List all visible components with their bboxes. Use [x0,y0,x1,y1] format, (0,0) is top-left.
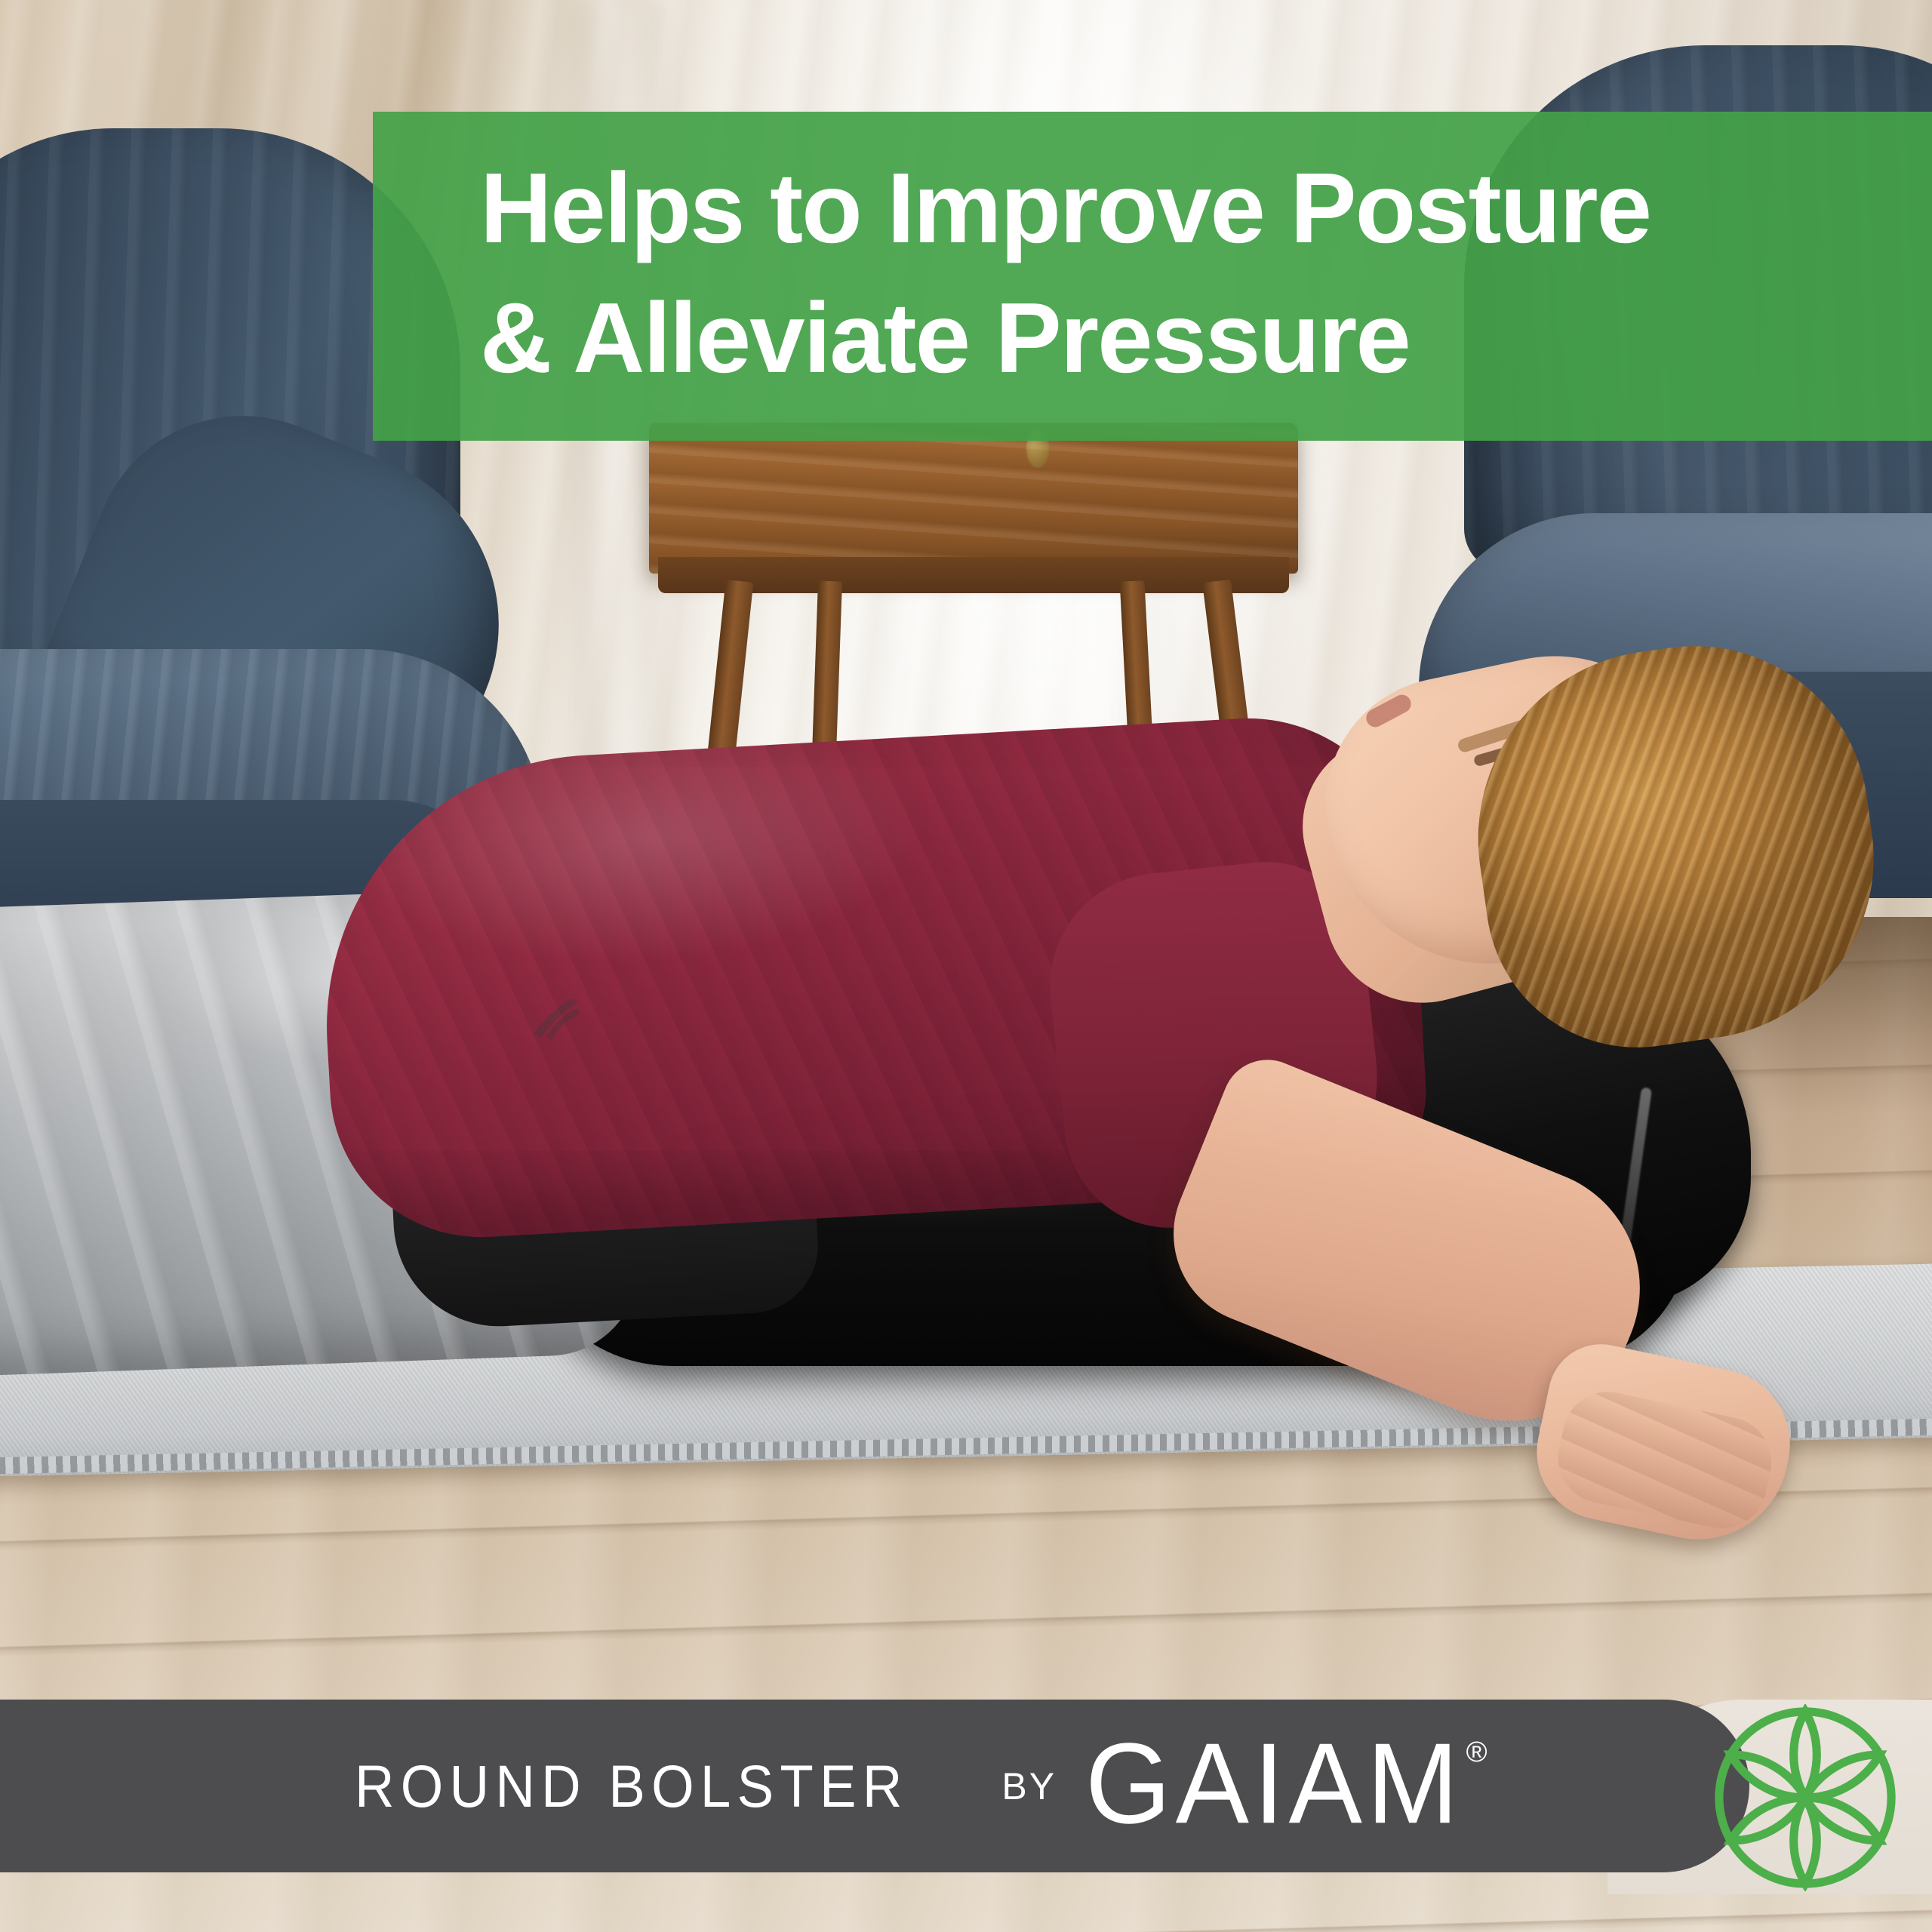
brand-bar: ROUND BOLSTER BY GAIAM ® [0,1700,1749,1872]
headline-line-1: Helps to Improve Posture [480,143,1932,273]
gaiam-flower-of-life-logo [1712,1704,1899,1891]
brand-bar-content: ROUND BOLSTER BY GAIAM ® [355,1734,1487,1838]
headline-line-2: & Alleviate Pressure [480,273,1932,403]
shirt-brand-icon [525,992,586,1044]
headline-banner: Helps to Improve Posture & Alleviate Pre… [373,112,1932,441]
product-name: ROUND BOLSTER [355,1752,909,1821]
by-connector: BY [1001,1764,1057,1808]
side-table-top [649,423,1298,574]
product-marketing-image: Helps to Improve Posture & Alleviate Pre… [0,0,1932,1932]
registered-trademark-icon: ® [1466,1738,1487,1767]
brand-wordmark: GAIAM ® [1085,1734,1487,1838]
brand-name: GAIAM [1085,1730,1463,1838]
